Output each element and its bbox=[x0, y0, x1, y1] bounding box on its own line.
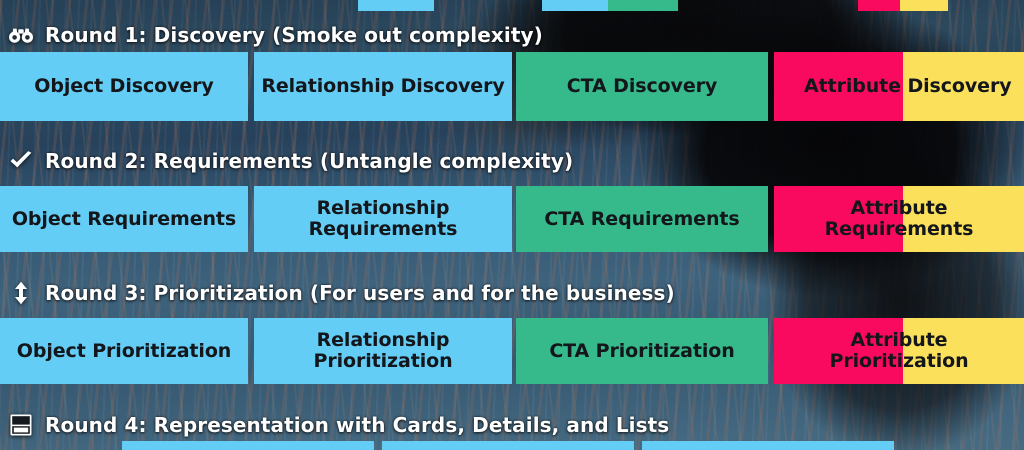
card-object-discovery[interactable]: Object Discovery bbox=[0, 52, 248, 121]
card-label: CTA Prioritization bbox=[549, 341, 734, 362]
attribute-yellow-half bbox=[903, 186, 1024, 252]
card-cta-prioritization[interactable]: CTA Prioritization bbox=[516, 318, 768, 384]
top-fragment-pink bbox=[858, 0, 900, 11]
round-header-4: Round 4: Representation with Cards, Deta… bbox=[0, 410, 669, 440]
check-icon bbox=[8, 148, 34, 174]
card-attribute-prioritization[interactable]: Attribute Prioritization bbox=[774, 318, 1024, 384]
round-header-2: Round 2: Requirements (Untangle complexi… bbox=[0, 146, 573, 176]
card-label: CTA Requirements bbox=[544, 209, 739, 230]
binoculars-icon bbox=[8, 22, 34, 48]
attribute-pink-half bbox=[774, 52, 903, 121]
round-title-1: Round 1: Discovery (Smoke out complexity… bbox=[45, 23, 543, 47]
card-attribute-requirements[interactable]: Attribute Requirements bbox=[774, 186, 1024, 252]
attribute-yellow-half bbox=[903, 52, 1024, 121]
round-header-3: Round 3: Prioritization (For users and f… bbox=[0, 278, 675, 308]
round-title-2: Round 2: Requirements (Untangle complexi… bbox=[45, 149, 573, 173]
card-label: Object Prioritization bbox=[17, 341, 231, 362]
card-label: Relationship Requirements bbox=[309, 198, 458, 239]
attribute-pink-half bbox=[774, 186, 903, 252]
bottom-fragment-blue-1 bbox=[122, 441, 374, 450]
card-relationship-prioritization[interactable]: Relationship Prioritization bbox=[254, 318, 512, 384]
card-layout-icon bbox=[8, 412, 34, 438]
bottom-fragment-blue-2 bbox=[382, 441, 634, 450]
top-fragment-blue-2 bbox=[542, 0, 618, 11]
card-label: Relationship Discovery bbox=[261, 76, 504, 97]
card-label: CTA Discovery bbox=[567, 76, 717, 97]
attribute-yellow-half bbox=[903, 318, 1024, 384]
up-down-arrow-icon bbox=[8, 280, 34, 306]
card-cta-requirements[interactable]: CTA Requirements bbox=[516, 186, 768, 252]
card-label: Object Discovery bbox=[34, 76, 213, 97]
top-fragment-blue-1 bbox=[358, 0, 434, 11]
slide-canvas: Round 1: Discovery (Smoke out complexity… bbox=[0, 0, 1024, 450]
card-relationship-discovery[interactable]: Relationship Discovery bbox=[254, 52, 512, 121]
card-object-prioritization[interactable]: Object Prioritization bbox=[0, 318, 248, 384]
card-object-requirements[interactable]: Object Requirements bbox=[0, 186, 248, 252]
card-relationship-requirements[interactable]: Relationship Requirements bbox=[254, 186, 512, 252]
bottom-fragment-blue-3 bbox=[642, 441, 894, 450]
round-title-3: Round 3: Prioritization (For users and f… bbox=[45, 281, 675, 305]
top-fragment-green bbox=[608, 0, 678, 11]
round-title-4: Round 4: Representation with Cards, Deta… bbox=[45, 413, 669, 437]
card-cta-discovery[interactable]: CTA Discovery bbox=[516, 52, 768, 121]
top-fragment-yellow bbox=[900, 0, 948, 11]
round-header-1: Round 1: Discovery (Smoke out complexity… bbox=[0, 20, 543, 50]
card-attribute-discovery[interactable]: Attribute Discovery bbox=[774, 52, 1024, 121]
attribute-pink-half bbox=[774, 318, 903, 384]
card-label: Object Requirements bbox=[12, 209, 236, 230]
card-label: Relationship Prioritization bbox=[314, 330, 453, 371]
